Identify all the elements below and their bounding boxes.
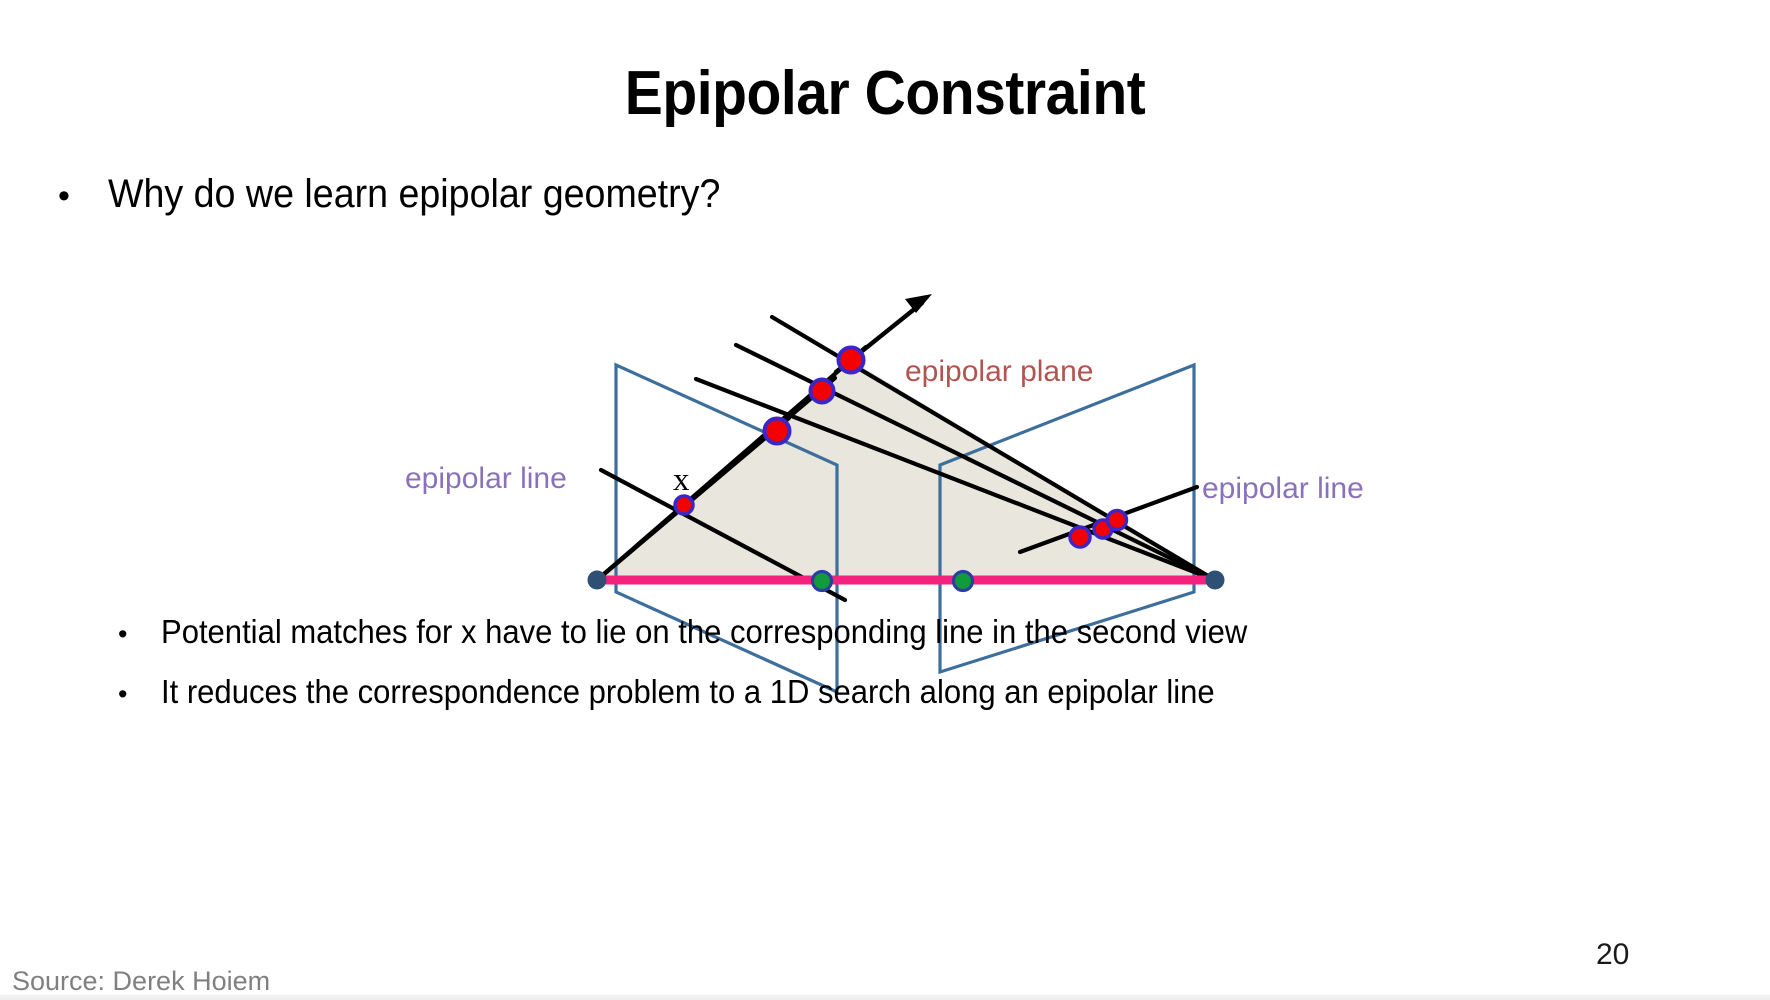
epipole-right bbox=[954, 572, 973, 591]
scene-points bbox=[765, 348, 864, 444]
bullet-reduces-correspondence: • It reduces the correspondence problem … bbox=[118, 673, 1282, 711]
footer-divider bbox=[0, 995, 1770, 1000]
camera-centers bbox=[588, 571, 1225, 590]
epipole-left bbox=[813, 572, 832, 591]
bullet-marker-icon: • bbox=[118, 681, 161, 708]
right-image-point bbox=[1108, 511, 1127, 530]
left-ray-1 bbox=[597, 347, 866, 580]
camera-center-left bbox=[588, 571, 607, 590]
bullet-potential-matches: • Potential matches for x have to lie on… bbox=[118, 613, 1317, 651]
bullet-label: Why do we learn epipolar geometry? bbox=[108, 172, 720, 217]
slide-canvas: Epipolar Constraint • Why do we learn ep… bbox=[0, 0, 1770, 1000]
bullet-why-learn: • Why do we learn epipolar geometry? bbox=[58, 172, 759, 217]
label-epipolar-plane: epipolar plane bbox=[905, 355, 1093, 389]
right-image-point bbox=[1070, 527, 1090, 547]
right-epipolar-line bbox=[1020, 487, 1197, 552]
page-title: Epipolar Constraint bbox=[71, 58, 1699, 129]
scene-point bbox=[811, 380, 834, 403]
label-epipolar-line-right: epipolar line bbox=[1202, 472, 1364, 506]
epipolar-plane-fill-3 bbox=[597, 431, 1215, 580]
right-ray-3 bbox=[696, 379, 1215, 580]
label-epipolar-line-left: epipolar line bbox=[405, 462, 567, 496]
page-number: 20 bbox=[1596, 938, 1629, 972]
bullet-label: Potential matches for x have to lie on t… bbox=[161, 613, 1247, 651]
left-epipolar-line bbox=[601, 470, 845, 600]
source-attribution: Source: Derek Hoiem bbox=[12, 966, 270, 997]
right-image-point bbox=[1094, 520, 1112, 538]
scene-point bbox=[839, 348, 864, 373]
left-camera-rays bbox=[597, 347, 866, 580]
bullet-marker-icon: • bbox=[118, 621, 161, 648]
bullet-label: It reduces the correspondence problem to… bbox=[161, 673, 1215, 711]
left-ray-3 bbox=[597, 418, 789, 580]
epipolar-geometry-diagram bbox=[0, 0, 1770, 1000]
epipoles bbox=[813, 572, 973, 591]
bullet-marker-icon: • bbox=[58, 179, 108, 213]
camera-center-right bbox=[1206, 571, 1225, 590]
right-image-points bbox=[1070, 511, 1127, 548]
scene-point bbox=[765, 419, 790, 444]
label-point-x: x bbox=[673, 462, 690, 499]
left-ray-2 bbox=[597, 378, 835, 580]
